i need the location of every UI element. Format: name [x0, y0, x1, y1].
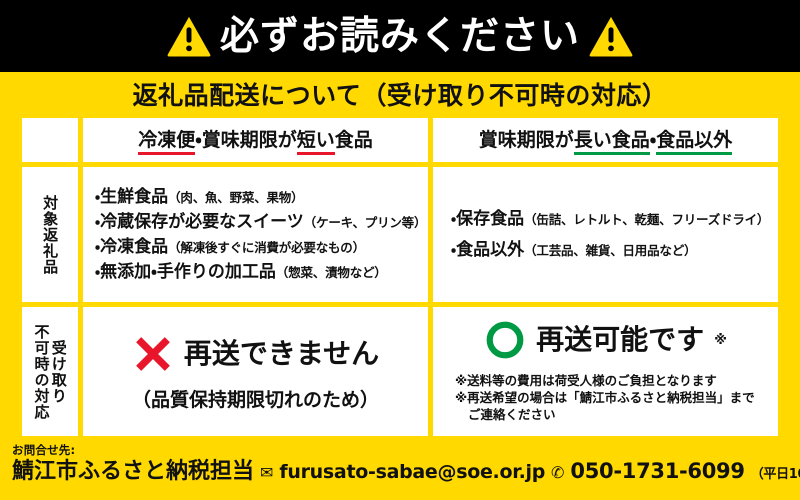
table-row: 受け取り 不可時の対応 再送できません （品質保持期限切れのため） [22, 307, 778, 436]
column-header-long-shelf-life: 賞味期限が長い食品・食品以外 [433, 118, 778, 162]
header-part-food: 食品 [335, 129, 373, 151]
item-sub-text: （惣菜、漬物など） [276, 265, 387, 280]
telephone-icon: ✆ [551, 465, 564, 481]
table-row: 対象返礼品 ・生鮮食品（肉、魚、野菜、果物） ・冷蔵保存が必要なスイーツ（ケーキ… [22, 167, 778, 302]
header-part-long-food: 長い食品 [574, 129, 650, 155]
header-part-short: 短い [297, 129, 335, 155]
resend-notes: ※送料等の費用は荷受人様のご負担となります ※再送希望の場合は「鯖江市ふるさと納… [433, 373, 778, 424]
cell-left-cannot-resend: 再送できません （品質保持期限切れのため） [83, 307, 428, 436]
page-title: 必ずお読みください [220, 17, 580, 56]
result-headline-row: 再送できません [83, 333, 428, 375]
header-part-expiry: 賞味期限が [202, 129, 297, 151]
item-main-text: 保存食品 [456, 209, 524, 229]
footer-organization: 鯖江市ふるさと納税担当 [12, 460, 254, 484]
list-item: ・冷凍食品（解凍後すぐに消費が必要なもの） [95, 237, 424, 257]
footer-contact-line: 鯖江市ふるさと納税担当 ✉ furusato-sabae@soe.or.jp ✆… [12, 460, 800, 484]
envelope-icon: ✉ [260, 465, 273, 481]
result-headline: 再送できません [184, 340, 379, 368]
vertical-label-group: 受け取り 不可時の対応 [22, 307, 78, 436]
item-sub-text: （肉、魚、野菜、果物） [168, 190, 303, 205]
vertical-label-group: 対象返礼品 [22, 167, 78, 302]
footer-contact: お問合せ先: 鯖江市ふるさと納税担当 ✉ furusato-sabae@soe.… [0, 441, 800, 500]
item-main-text: 食品以外 [456, 240, 524, 260]
cross-mark-icon [132, 333, 174, 375]
item-main-text: 冷蔵保存が必要なスイーツ [100, 212, 304, 232]
bullet-list-right: ・保存食品（缶詰、レトルト、乾麺、フリーズドライ） ・食品以外（工芸品、雑貨、日… [433, 198, 778, 271]
footer-phone[interactable]: 050-1731-6099 [570, 460, 744, 483]
list-item: ・保存食品（缶詰、レトルト、乾麺、フリーズドライ） [451, 209, 774, 229]
header-banner: 必ずお読みください [0, 0, 800, 72]
cell-left-target-items: ・生鮮食品（肉、魚、野菜、果物） ・冷蔵保存が必要なスイーツ（ケーキ、プリン等）… [83, 167, 428, 302]
row-label-target-items: 対象返礼品 [22, 167, 78, 302]
item-sub-text: （ケーキ、プリン等） [304, 215, 427, 230]
row-label-text-receipt: 受け取り [51, 340, 67, 404]
row-label-text-response: 不可時の対応 [33, 324, 49, 420]
footer-label: お問合せ先: [12, 444, 800, 458]
warning-triangle-icon [588, 15, 634, 57]
list-item: ・冷蔵保存が必要なスイーツ（ケーキ、プリン等） [95, 212, 424, 232]
item-main-text: 無添加・手作りの加工品 [100, 262, 276, 282]
item-sub-text: （解凍後すぐに消費が必要なもの） [168, 240, 365, 255]
row-label-undeliverable-response: 受け取り 不可時の対応 [22, 307, 78, 436]
header-part-frozen: 冷凍便 [138, 129, 195, 155]
note-shipping-fee: ※送料等の費用は荷受人様のご負担となります [455, 373, 770, 390]
item-main-text: 生鮮食品 [100, 187, 168, 207]
delivery-policy-table: 冷凍便・賞味期限が短い食品 賞味期限が長い食品・食品以外 対象返礼品 ・生鮮食品… [22, 118, 778, 436]
result-subline: （品質保持期限切れのため） [132, 391, 379, 410]
header-part-non-food: 食品以外 [656, 129, 732, 155]
cell-right-can-resend: 再送可能です ※ ※送料等の費用は荷受人様のご負担となります ※再送希望の場合は… [433, 307, 778, 436]
item-sub-text: （缶詰、レトルト、乾麺、フリーズドライ） [524, 212, 769, 227]
table-header-row: 冷凍便・賞味期限が短い食品 賞味期限が長い食品・食品以外 [22, 118, 778, 162]
column-header-right-text: 賞味期限が長い食品・食品以外 [433, 131, 778, 150]
item-main-text: 冷凍食品 [100, 237, 168, 257]
column-header-left-text: 冷凍便・賞味期限が短い食品 [83, 131, 428, 150]
notice-poster: 必ずお読みください 返礼品配送について（受け取り不可時の対応） 冷凍便・賞味期限… [0, 0, 800, 500]
table-corner-cell [22, 118, 78, 162]
footer-email[interactable]: furusato-sabae@soe.or.jp [279, 462, 545, 483]
column-header-short-shelf-life: 冷凍便・賞味期限が短い食品 [83, 118, 428, 162]
list-item: ・無添加・手作りの加工品（惣菜、漬物など） [95, 262, 424, 282]
circle-mark-icon [484, 319, 526, 361]
cell-right-target-items: ・保存食品（缶詰、レトルト、乾麺、フリーズドライ） ・食品以外（工芸品、雑貨、日… [433, 167, 778, 302]
bullet-list-left: ・生鮮食品（肉、魚、野菜、果物） ・冷蔵保存が必要なスイーツ（ケーキ、プリン等）… [83, 182, 428, 287]
note-resend-contact-cont: ご連絡ください [455, 407, 770, 424]
header-part-expiry2: 賞味期限が [479, 129, 574, 151]
list-item: ・食品以外（工芸品、雑貨、日用品など） [451, 240, 774, 260]
note-resend-contact: ※再送希望の場合は「鯖江市ふるさと納税担当」まで [455, 390, 770, 407]
subtitle-text: 返礼品配送について（受け取り不可時の対応） [133, 83, 668, 108]
asterisk-mark: ※ [714, 333, 727, 348]
result-headline: 再送可能です [536, 326, 704, 354]
list-item: ・生鮮食品（肉、魚、野菜、果物） [95, 187, 424, 207]
result-headline-row: 再送可能です ※ [433, 319, 778, 361]
item-sub-text: （工芸品、雑貨、日用品など） [524, 243, 696, 258]
subtitle-banner: 返礼品配送について（受け取り不可時の対応） [0, 72, 800, 118]
footer-hours: （平日10:00-17:00対応） [751, 468, 800, 482]
warning-triangle-icon [166, 15, 212, 57]
row-label-text: 対象返礼品 [42, 195, 58, 275]
